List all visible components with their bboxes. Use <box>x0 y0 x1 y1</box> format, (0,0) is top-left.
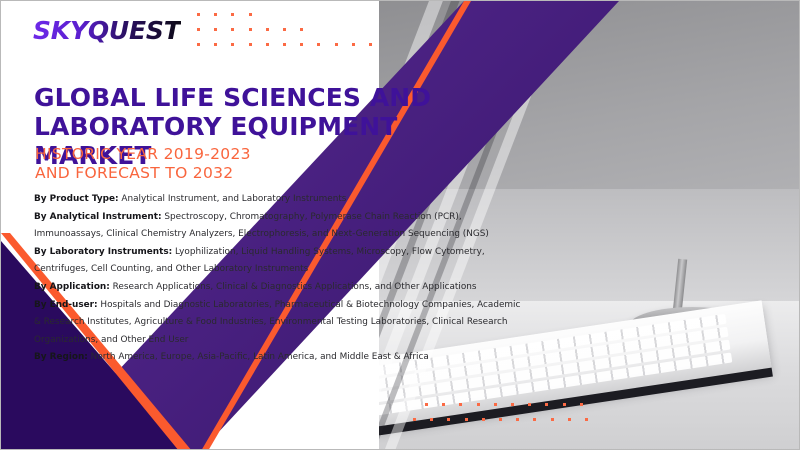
segment-end-user: By End-user: Hospitals and Diagnostic La… <box>34 297 524 350</box>
segment-label: By Product Type: <box>34 194 119 204</box>
segment-region: By Region: North America, Europe, Asia-P… <box>34 349 524 367</box>
segment-laboratory-instruments: By Laboratory Instruments: Lyophilizatio… <box>34 244 524 279</box>
dot-pattern-bottom <box>425 403 588 433</box>
dot-row <box>425 403 588 406</box>
dot-row <box>413 418 588 421</box>
segment-application: By Application: Research Applications, C… <box>34 279 524 297</box>
segment-label: By Application: <box>34 282 110 292</box>
segment-value: Hospitals and Diagnostic Laboratories, P… <box>34 300 520 345</box>
subtitle-line-2: AND FORECAST TO 2032 <box>35 164 233 182</box>
dot-row <box>197 28 372 31</box>
dot-pattern-top <box>197 13 372 58</box>
segment-product-type: By Product Type: Analytical Instrument, … <box>34 191 524 209</box>
poster-content: SKYQUEST GLOBAL LIFE SCIENCES AND LABORA… <box>1 1 521 450</box>
segment-label: By Region: <box>34 352 88 362</box>
dot-row <box>197 43 372 46</box>
page-subtitle: HISTORIC YEAR 2019-2023 AND FORECAST TO … <box>35 145 435 183</box>
segment-value: Research Applications, Clinical & Diagno… <box>110 282 477 292</box>
segment-label: By Analytical Instrument: <box>34 212 162 222</box>
skyquest-logo[interactable]: SKYQUEST <box>33 16 181 45</box>
segment-value: North America, Europe, Asia-Pacific, Lat… <box>88 352 429 362</box>
segment-label: By End-user: <box>34 300 98 310</box>
segment-value: Analytical Instrument, and Laboratory In… <box>119 194 347 204</box>
poster-canvas: File Edit View Go Window Help 100% WEBIT <box>0 0 800 450</box>
segment-label: By Laboratory Instruments: <box>34 247 172 257</box>
dot-row <box>197 13 372 16</box>
segmentation-list: By Product Type: Analytical Instrument, … <box>34 191 524 367</box>
subtitle-line-1: HISTORIC YEAR 2019-2023 <box>35 145 251 163</box>
segment-analytical-instrument: By Analytical Instrument: Spectroscopy, … <box>34 209 524 244</box>
title-line-1: GLOBAL LIFE SCIENCES AND <box>34 83 431 112</box>
